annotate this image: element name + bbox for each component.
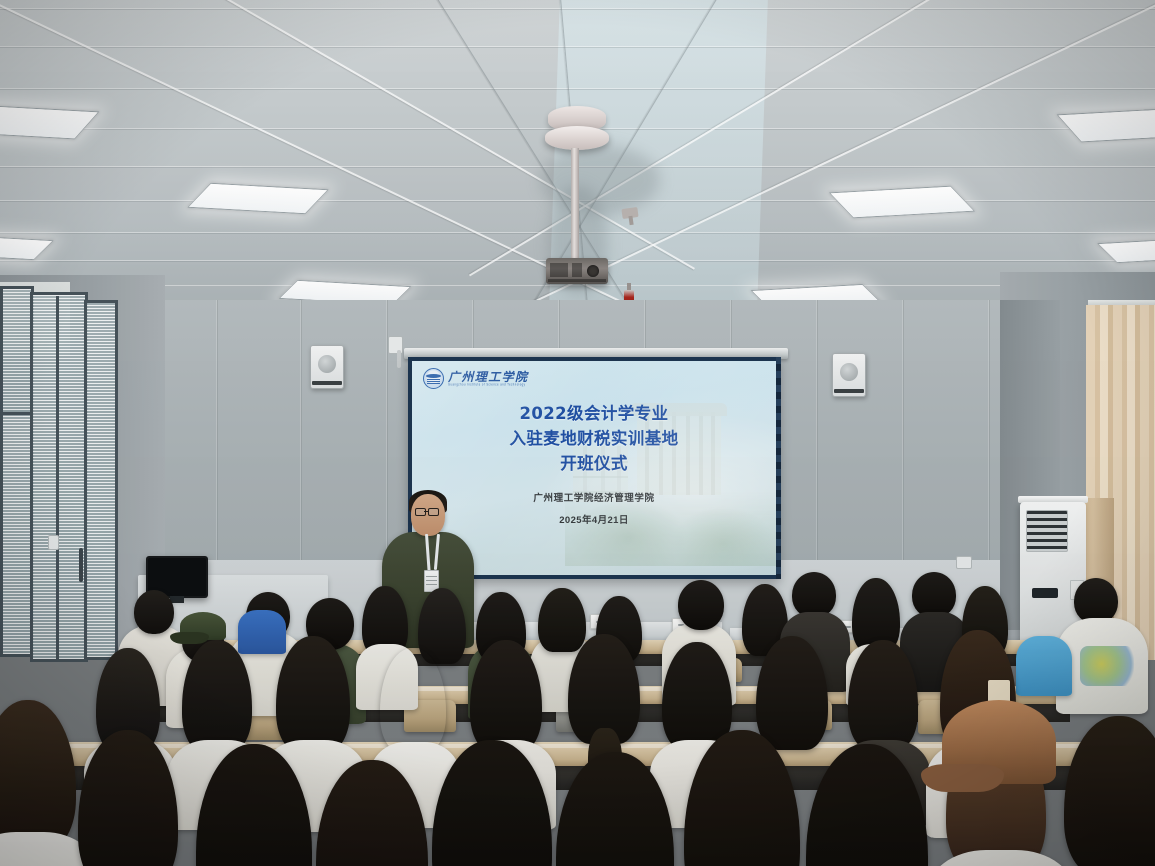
glass-partition-right	[84, 300, 118, 660]
ceiling-light-panel	[187, 183, 329, 214]
ac-vent	[1026, 510, 1068, 552]
door-handle[interactable]	[79, 548, 83, 582]
slide-organization: 广州理工学院经济管理学院	[412, 490, 776, 504]
slide-logo: 广州理工学院 Guangzhou Institute of Science an…	[423, 368, 528, 389]
light-switch[interactable]	[48, 535, 59, 550]
ceiling-light-panel	[0, 234, 54, 260]
slide-title-line-1: 2022级会计学专业	[412, 401, 776, 426]
glasses-icon	[415, 508, 441, 515]
ceiling	[0, 0, 1155, 335]
slide-body: 2022级会计学专业 入驻麦地财税实训基地 开班仪式 广州理工学院经济管理学院 …	[412, 401, 776, 526]
logo-chinese-name: 广州理工学院	[448, 371, 528, 383]
slide-title-line-3: 开班仪式	[412, 451, 776, 476]
slide-date: 2025年4月21日	[412, 512, 776, 526]
glass-window-upper	[0, 286, 34, 416]
wall-speaker-right	[832, 353, 866, 397]
slide-title-line-2: 入驻麦地财税实训基地	[412, 426, 776, 451]
logo-english-name: Guangzhou Institute of Science and Techn…	[448, 384, 528, 387]
ceiling-light-panel	[829, 186, 976, 219]
projector-drop-pole	[571, 148, 579, 260]
ceiling-light-panel	[0, 105, 100, 140]
projector	[546, 258, 608, 284]
ac-display-panel[interactable]	[1032, 588, 1058, 598]
window-mullion	[56, 296, 59, 662]
ceiling-light-panel	[1056, 108, 1155, 143]
screen-edge-tabs	[776, 357, 781, 579]
classroom-photo: 广州理工学院 Guangzhou Institute of Science an…	[0, 0, 1155, 866]
glass-door-left	[0, 412, 34, 657]
wall-socket	[956, 556, 972, 569]
wall-conduit	[397, 350, 401, 368]
wall-speaker-left	[310, 345, 344, 389]
baseball-cap	[180, 612, 226, 640]
baseball-cap	[942, 700, 1056, 784]
projector-mount-disc	[545, 126, 609, 150]
glass-partition-middle	[30, 292, 88, 662]
projection-screen: 广州理工学院 Guangzhou Institute of Science an…	[412, 361, 776, 575]
university-seal-icon	[423, 368, 444, 389]
